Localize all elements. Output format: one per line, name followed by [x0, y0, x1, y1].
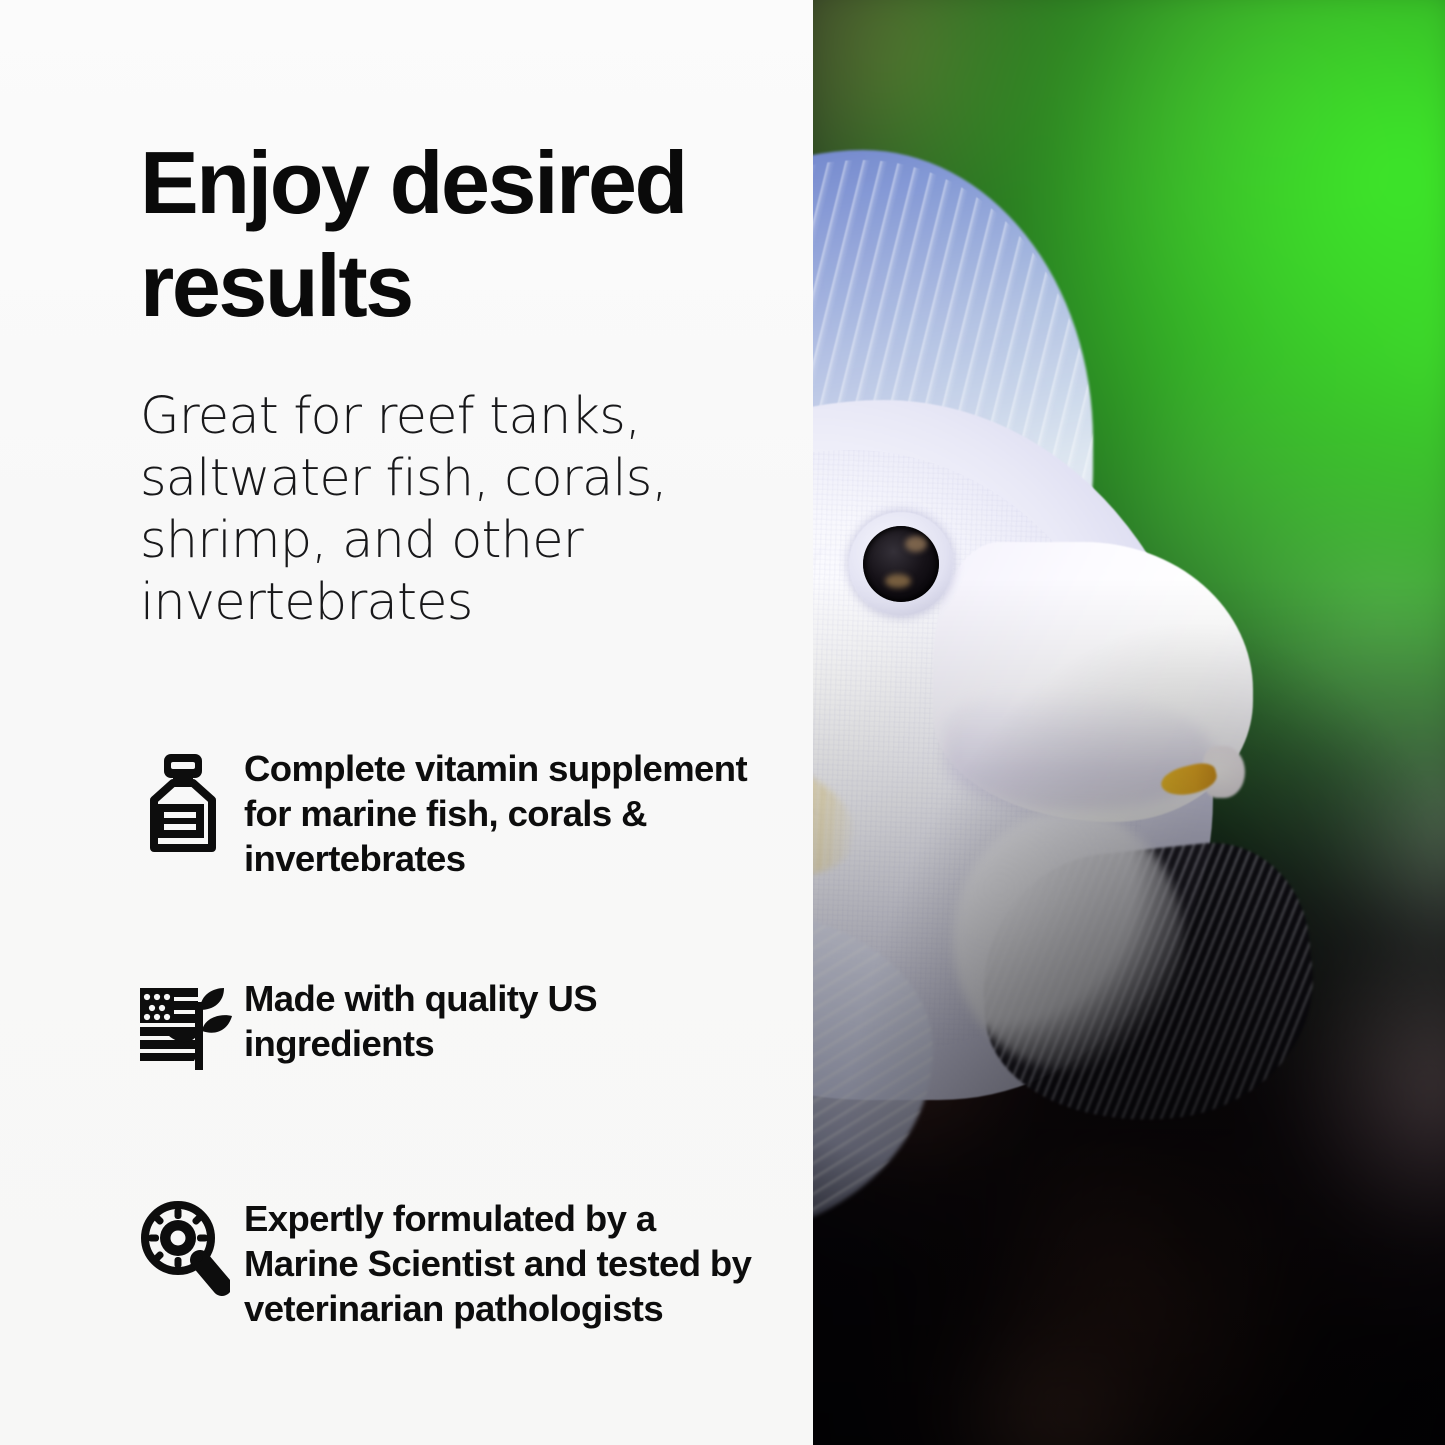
infographic-canvas: Enjoy desired results Great for reef tan…	[0, 0, 1445, 1445]
page-title: Enjoy desired results	[140, 131, 790, 337]
feature-label: Made with quality US ingredients	[244, 972, 764, 1066]
feature-label: Complete vitamin supplement for marine f…	[244, 742, 764, 881]
feature-label: Expertly formulated by a Marine Scientis…	[244, 1192, 764, 1331]
feature-item-supplement: Complete vitamin supplement for marine f…	[140, 742, 764, 881]
product-photo	[813, 0, 1445, 1445]
feature-item-us-ingredients: Made with quality US ingredients	[140, 972, 764, 1076]
feature-item-expert-formulation: Expertly formulated by a Marine Scientis…	[140, 1192, 764, 1331]
content-panel: Enjoy desired results Great for reef tan…	[0, 0, 813, 1445]
photo-vignette	[813, 0, 1445, 1445]
magnifier-microbe-icon	[140, 1192, 244, 1296]
subheadline-text: Great for reef tanks, saltwater fish, co…	[140, 386, 740, 634]
supplement-bottle-icon	[140, 742, 244, 846]
us-flag-plant-icon	[140, 972, 244, 1076]
